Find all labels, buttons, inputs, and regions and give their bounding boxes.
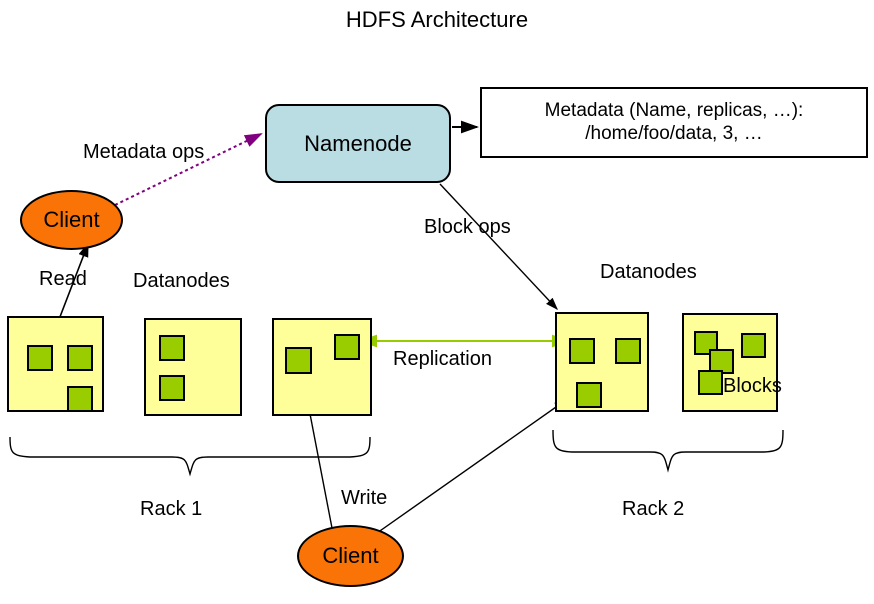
block	[159, 375, 185, 401]
metadata-box[interactable]: Metadata (Name, replicas, …): /home/foo/…	[480, 87, 868, 158]
datanode-1[interactable]	[7, 316, 104, 412]
block	[615, 338, 641, 364]
block-ops-arrow	[440, 184, 557, 309]
metadata-ops-label: Metadata ops	[83, 141, 204, 164]
block	[67, 386, 93, 412]
rack1-label: Rack 1	[140, 498, 202, 521]
blocks-label: Blocks	[723, 375, 782, 398]
read-label: Read	[39, 268, 87, 291]
datanodes-right-label: Datanodes	[600, 261, 697, 284]
metadata-line-1: Metadata (Name, replicas, …):	[545, 100, 804, 122]
client-read-node[interactable]: Client	[20, 190, 123, 250]
block	[334, 334, 360, 360]
block	[569, 338, 595, 364]
block	[67, 345, 93, 371]
block	[285, 347, 312, 374]
rack2-brace	[553, 430, 783, 470]
replication-label: Replication	[393, 348, 492, 371]
datanode-3[interactable]	[272, 318, 372, 416]
write-arrow-remote	[377, 400, 566, 533]
client-write-node[interactable]: Client	[297, 525, 404, 587]
client-read-label: Client	[43, 207, 99, 233]
namenode-label: Namenode	[304, 131, 412, 157]
hdfs-architecture-diagram: HDFS Architecture	[0, 0, 874, 604]
datanode-4[interactable]	[555, 312, 649, 412]
block	[159, 335, 185, 361]
block	[741, 333, 766, 358]
metadata-line-2: /home/foo/data, 3, …	[585, 123, 762, 145]
rack2-label: Rack 2	[622, 498, 684, 521]
client-write-label: Client	[322, 543, 378, 569]
write-label: Write	[341, 487, 387, 510]
datanode-2[interactable]	[144, 318, 242, 416]
block	[576, 382, 602, 408]
datanodes-left-label: Datanodes	[133, 270, 230, 293]
block	[698, 370, 723, 395]
namenode-box[interactable]: Namenode	[265, 104, 451, 183]
block	[27, 345, 53, 371]
block-ops-label: Block ops	[424, 216, 511, 239]
